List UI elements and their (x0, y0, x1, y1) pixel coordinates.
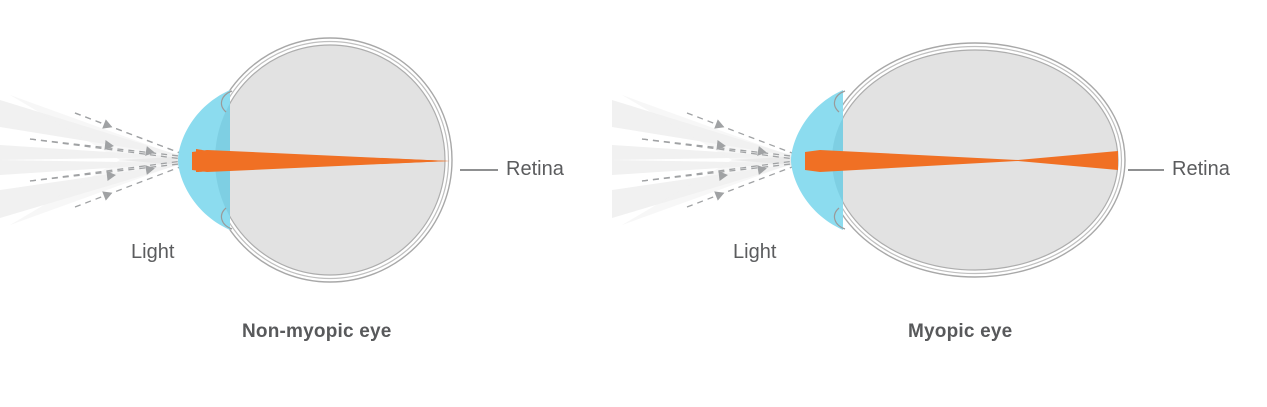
retina-label-non-myopic: Retina (506, 158, 564, 181)
caption-non-myopic-eye: Non-myopic eye (242, 321, 392, 343)
diagram-canvas (0, 0, 1267, 407)
light-label-non-myopic: Light (131, 241, 174, 264)
light-label-myopic: Light (733, 241, 776, 264)
myopia-diagram: Light Retina Non-myopic eye Light Retina… (0, 0, 1267, 407)
caption-myopic-eye: Myopic eye (908, 321, 1012, 343)
panel-myopic (612, 43, 1164, 277)
panel-non-myopic (0, 38, 498, 282)
retina-label-myopic: Retina (1172, 158, 1230, 181)
